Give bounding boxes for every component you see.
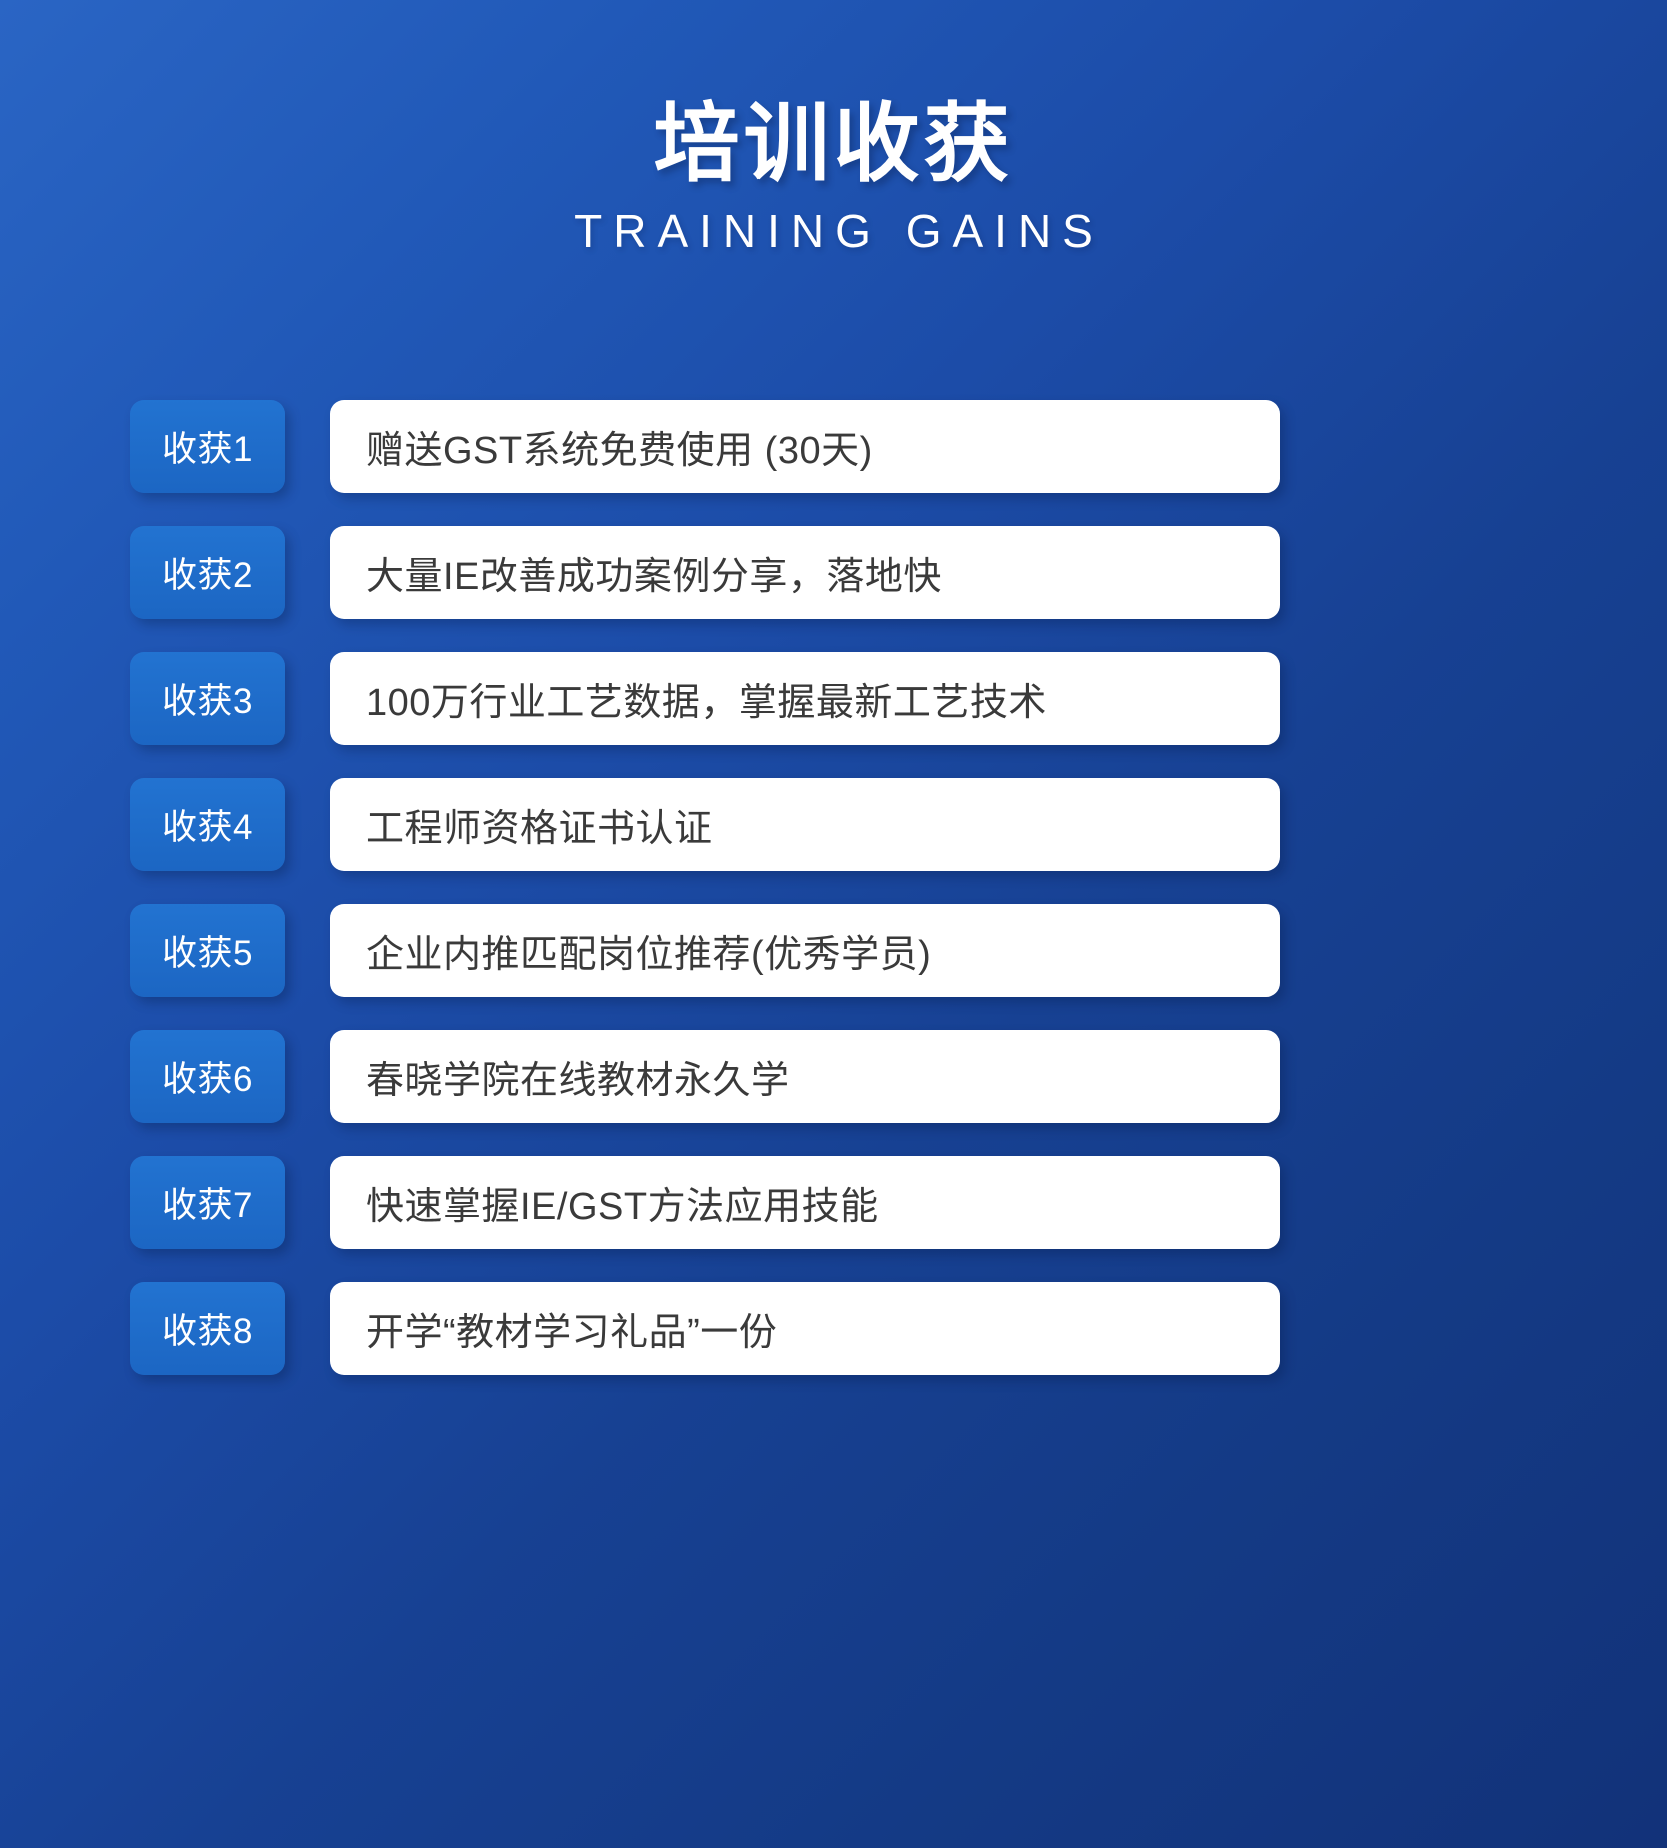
- gain-card-3: 100万行业工艺数据，掌握最新工艺技术: [330, 652, 1280, 745]
- gain-card-text: 企业内推匹配岗位推荐(优秀学员): [330, 923, 955, 978]
- gain-card-4: 工程师资格证书认证: [330, 778, 1280, 871]
- page-subtitle: TRAINING GAINS: [0, 204, 1667, 259]
- gain-card-5: 企业内推匹配岗位推荐(优秀学员): [330, 904, 1280, 997]
- list-item: 收获7 快速掌握IE/GST方法应用技能: [130, 1156, 1280, 1249]
- list-item: 收获6 春晓学院在线教材永久学: [130, 1030, 1280, 1123]
- gain-badge-2: 收获2: [130, 526, 285, 619]
- gain-badge-label: 收获6: [162, 1051, 253, 1102]
- gain-card-6: 春晓学院在线教材永久学: [330, 1030, 1280, 1123]
- gain-badge-3: 收获3: [130, 652, 285, 745]
- gain-card-text: 100万行业工艺数据，掌握最新工艺技术: [330, 671, 1071, 726]
- gain-card-text: 赠送GST系统免费使用 (30天): [330, 419, 897, 474]
- gain-badge-5: 收获5: [130, 904, 285, 997]
- poster-header: 培训收获 TRAINING GAINS: [0, 96, 1667, 260]
- list-item: 收获3 100万行业工艺数据，掌握最新工艺技术: [130, 652, 1280, 745]
- gain-card-text: 快速掌握IE/GST方法应用技能: [330, 1175, 903, 1230]
- gain-card-text: 工程师资格证书认证: [330, 797, 737, 852]
- gain-badge-label: 收获7: [162, 1177, 253, 1228]
- gain-badge-6: 收获6: [130, 1030, 285, 1123]
- list-item: 收获2 大量IE改善成功案例分享，落地快: [130, 526, 1280, 619]
- gain-card-8: 开学“教材学习礼品”一份: [330, 1282, 1280, 1375]
- gain-badge-8: 收获8: [130, 1282, 285, 1375]
- list-item: 收获8 开学“教材学习礼品”一份: [130, 1282, 1280, 1375]
- gain-card-text: 春晓学院在线教材永久学: [330, 1049, 814, 1104]
- gain-badge-label: 收获2: [162, 547, 253, 598]
- list-item: 收获1 赠送GST系统免费使用 (30天): [130, 400, 1280, 493]
- gain-card-text: 大量IE改善成功案例分享，落地快: [330, 545, 966, 600]
- list-item: 收获5 企业内推匹配岗位推荐(优秀学员): [130, 904, 1280, 997]
- gain-badge-label: 收获8: [162, 1303, 253, 1354]
- gain-card-text: 开学“教材学习礼品”一份: [330, 1301, 801, 1356]
- gain-badge-label: 收获1: [162, 421, 253, 472]
- gain-badge-label: 收获5: [162, 925, 253, 976]
- gain-badge-label: 收获4: [162, 799, 253, 850]
- gain-badge-4: 收获4: [130, 778, 285, 871]
- gain-card-1: 赠送GST系统免费使用 (30天): [330, 400, 1280, 493]
- gain-card-2: 大量IE改善成功案例分享，落地快: [330, 526, 1280, 619]
- page-title: 培训收获: [0, 96, 1667, 192]
- gain-badge-1: 收获1: [130, 400, 285, 493]
- gains-list: 收获1 赠送GST系统免费使用 (30天) 收获2 大量IE改善成功案例分享，落…: [130, 400, 1280, 1375]
- gain-card-7: 快速掌握IE/GST方法应用技能: [330, 1156, 1280, 1249]
- gain-badge-7: 收获7: [130, 1156, 285, 1249]
- gain-badge-label: 收获3: [162, 673, 253, 724]
- training-gains-poster: 培训收获 TRAINING GAINS 收获1 赠送GST系统免费使用 (30天…: [0, 0, 1667, 1848]
- list-item: 收获4 工程师资格证书认证: [130, 778, 1280, 871]
